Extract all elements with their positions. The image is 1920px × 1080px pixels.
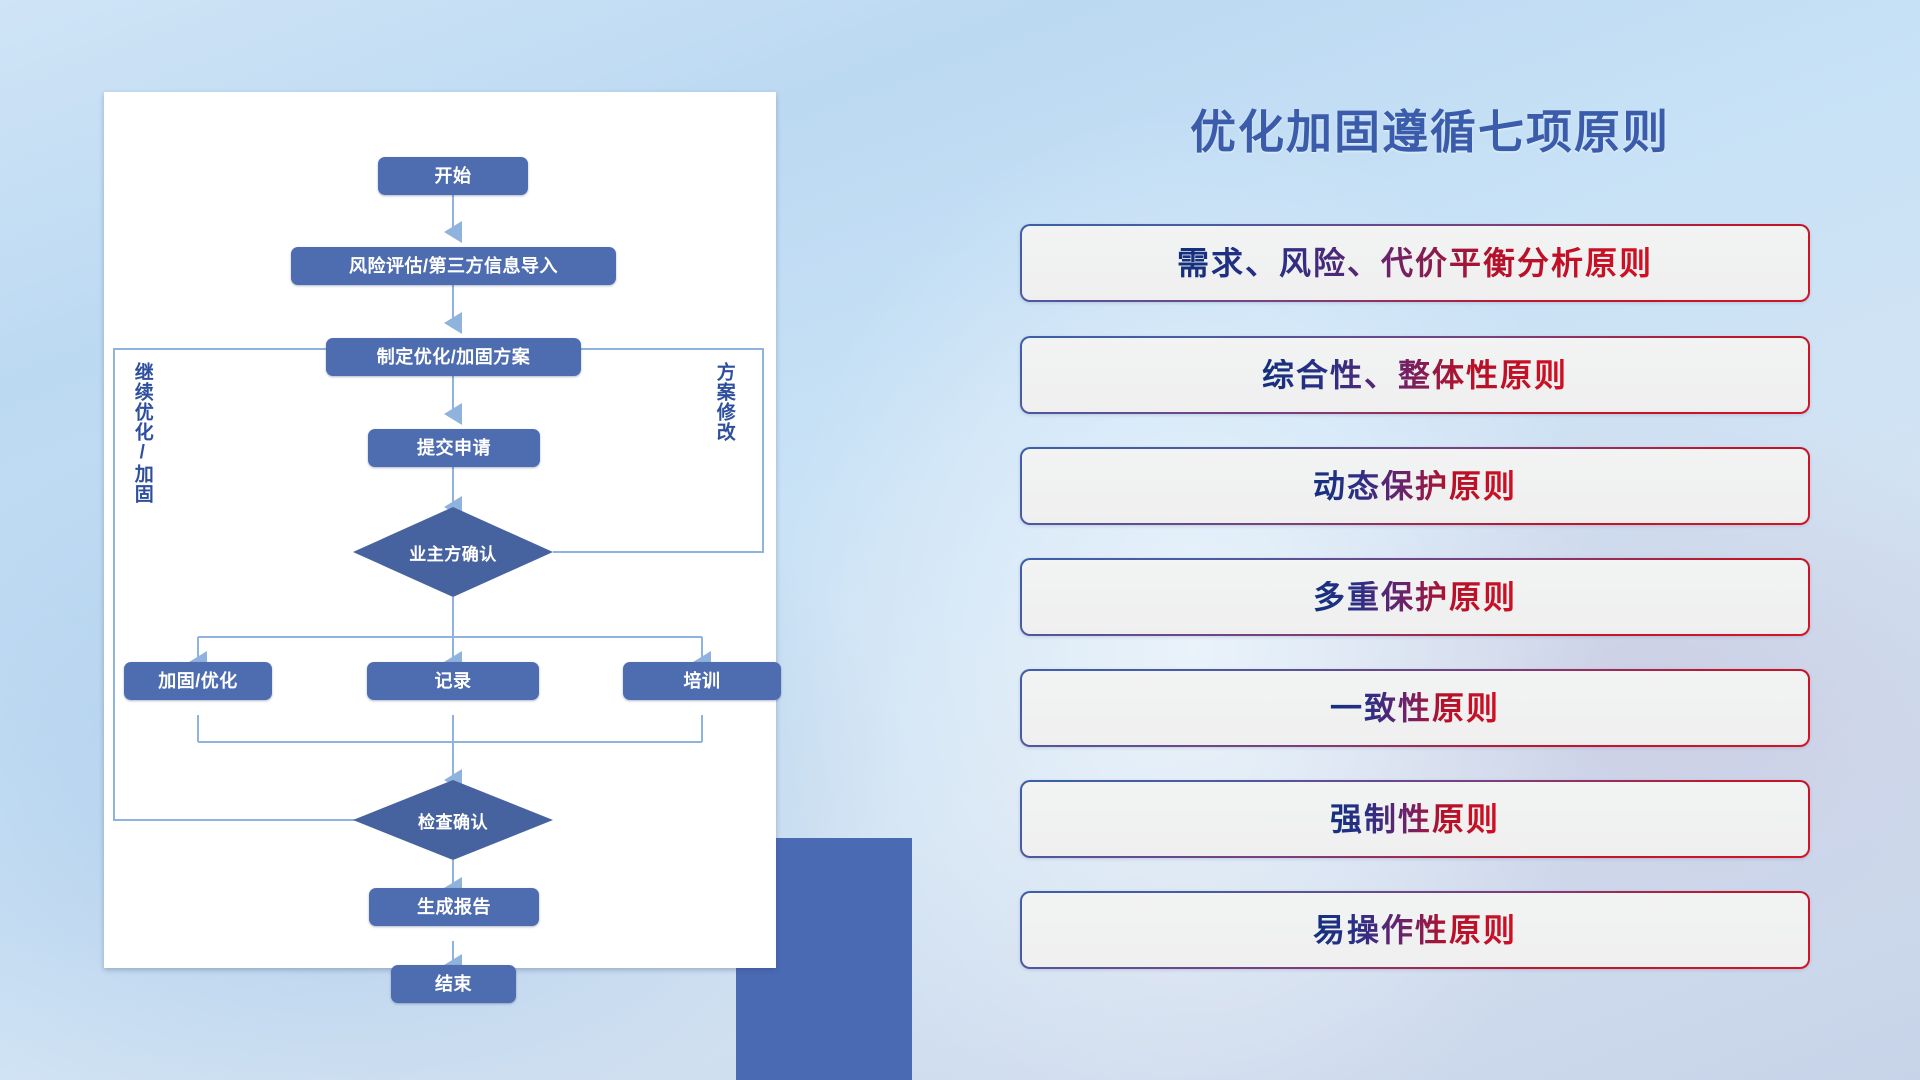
flow-node-label: 风险评估/第三方信息导入 bbox=[349, 257, 558, 275]
flow-node-label: 制定优化/加固方案 bbox=[377, 348, 531, 366]
principle-card-1[interactable]: 需求、风险、代价平衡分析原则 bbox=[1020, 224, 1810, 302]
principle-card-label: 动态保护原则 bbox=[1313, 470, 1517, 502]
flow-node-label: 提交申请 bbox=[417, 439, 491, 457]
flow-decision-label: 检查确认 bbox=[418, 808, 488, 833]
principle-card-label: 强制性原则 bbox=[1330, 803, 1500, 835]
flow-node-risk-assessment[interactable]: 风险评估/第三方信息导入 bbox=[291, 247, 616, 285]
flow-node-plan[interactable]: 制定优化/加固方案 bbox=[326, 338, 581, 376]
principle-card-5[interactable]: 一致性原则 bbox=[1020, 669, 1810, 747]
principle-card-3[interactable]: 动态保护原则 bbox=[1020, 447, 1810, 525]
flow-node-reinforce-optimize[interactable]: 加固/优化 bbox=[124, 662, 272, 700]
principle-card-label: 易操作性原则 bbox=[1313, 914, 1517, 946]
flowchart-panel: 开始 风险评估/第三方信息导入 制定优化/加固方案 提交申请 业主方确认 加固/… bbox=[104, 92, 776, 968]
principle-card-label: 多重保护原则 bbox=[1313, 581, 1517, 613]
flow-node-label: 加固/优化 bbox=[158, 672, 238, 690]
flow-node-label: 结束 bbox=[435, 975, 472, 993]
principle-card-7[interactable]: 易操作性原则 bbox=[1020, 891, 1810, 969]
flow-node-record[interactable]: 记录 bbox=[367, 662, 539, 700]
flow-edge-label-right: 方案修改 bbox=[714, 362, 734, 442]
flow-node-label: 记录 bbox=[435, 672, 472, 690]
flowchart-canvas: 开始 风险评估/第三方信息导入 制定优化/加固方案 提交申请 业主方确认 加固/… bbox=[104, 92, 776, 968]
principles-panel: 优化加固遵循七项原则 需求、风险、代价平衡分析原则 综合性、整体性原则 动态保护… bbox=[1020, 96, 1840, 996]
flow-node-label: 培训 bbox=[684, 672, 721, 690]
flow-decision-label: 业主方确认 bbox=[409, 540, 497, 565]
flow-node-start[interactable]: 开始 bbox=[378, 157, 528, 195]
principle-card-label: 综合性、整体性原则 bbox=[1262, 359, 1568, 391]
flow-node-submit-application[interactable]: 提交申请 bbox=[368, 429, 540, 467]
principle-card-4[interactable]: 多重保护原则 bbox=[1020, 558, 1810, 636]
flow-node-training[interactable]: 培训 bbox=[623, 662, 781, 700]
page-title: 优化加固遵循七项原则 bbox=[1020, 96, 1840, 162]
principle-card-6[interactable]: 强制性原则 bbox=[1020, 780, 1810, 858]
flow-node-generate-report[interactable]: 生成报告 bbox=[369, 888, 539, 926]
flow-node-label: 开始 bbox=[435, 167, 472, 185]
principle-card-label: 需求、风险、代价平衡分析原则 bbox=[1177, 247, 1653, 279]
flow-node-label: 生成报告 bbox=[417, 898, 491, 916]
flow-node-end[interactable]: 结束 bbox=[391, 965, 516, 1003]
principle-card-label: 一致性原则 bbox=[1330, 692, 1500, 724]
flow-edge-label-left: 继续优化/加固 bbox=[132, 362, 152, 504]
principle-card-2[interactable]: 综合性、整体性原则 bbox=[1020, 336, 1810, 414]
